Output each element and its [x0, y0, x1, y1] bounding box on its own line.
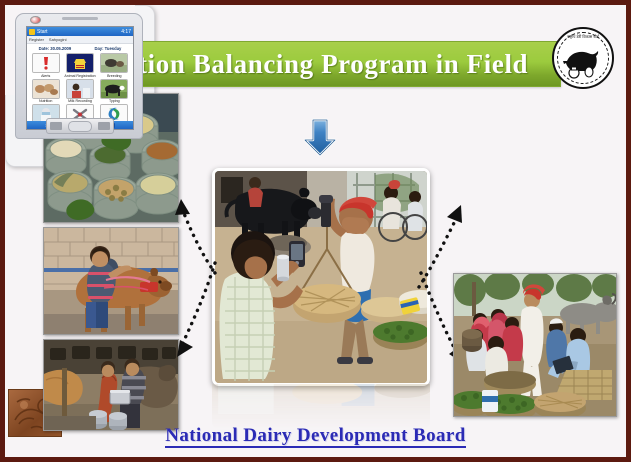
village-meeting-scene: [454, 274, 616, 416]
pda-screen[interactable]: Start 4:17 Register Sahyogini Date: 30.0…: [26, 26, 134, 130]
pda-menu-register[interactable]: Register: [29, 37, 44, 42]
pda-day-label: Day: Tuesday: [94, 46, 121, 51]
breeding-icon: [100, 53, 128, 73]
center-photo-reflection: [212, 384, 430, 430]
animal-registration-icon: [66, 53, 94, 73]
pda-app-alerts[interactable]: Alerts: [29, 53, 62, 78]
pda-menubar[interactable]: Register Sahyogini: [27, 36, 133, 44]
pda-date-label: Date: 30.05.2009: [39, 46, 72, 51]
pda-app-label: Alerts: [41, 74, 50, 78]
pda-hardware-buttons[interactable]: [46, 118, 114, 134]
footer-text: National Dairy Development Board: [165, 425, 465, 448]
pda-app-animal-registration[interactable]: Animal Registration: [63, 53, 96, 78]
pda-datebar: Date: 30.05.2009 Day: Tuesday: [27, 44, 133, 52]
pda-clock: 4:17: [121, 29, 131, 35]
milk-collection-scene: [44, 340, 178, 430]
page-title: Ration Balancing Program in Field: [104, 49, 528, 80]
pda-right-button[interactable]: [98, 122, 110, 130]
pda-titlebar: Start 4:17: [27, 27, 133, 36]
pda-app-label: Milk Recording: [68, 99, 92, 103]
pda-app-label: Typing: [109, 99, 120, 103]
pda-start-label: Start: [37, 29, 48, 35]
pda-app-label: Nutrition: [39, 99, 52, 103]
pda-dpad[interactable]: [68, 121, 92, 132]
nutrition-icon: [32, 79, 60, 99]
photo-village-farmer-meeting[interactable]: [453, 273, 617, 417]
pda-menu-sahyogini[interactable]: Sahyogini: [49, 37, 67, 42]
pda-speaker-grill: [62, 17, 98, 20]
pda-app-nutrition[interactable]: Nutrition: [29, 79, 62, 104]
photo-milk-collection[interactable]: [43, 339, 179, 431]
logo-hindi-text: राष्ट्रीय डेरी विकास बोर्ड: [554, 34, 612, 40]
pda-start-button[interactable]: Start: [29, 29, 48, 35]
pda-app-label: Breeding: [107, 74, 121, 78]
nddb-logo: राष्ट्रीय डेरी विकास बोर्ड: [552, 27, 614, 89]
pda-app-typing[interactable]: Typing: [98, 79, 131, 104]
pda-app-breeding[interactable]: Breeding: [98, 53, 131, 78]
typing-icon: [100, 79, 128, 99]
reflection-scene: [212, 384, 430, 430]
field-weighing-scene: [215, 171, 427, 383]
slide-root: Ration Balancing Program in Field राष्ट्…: [0, 0, 631, 462]
arrow-down-icon: [300, 117, 340, 159]
pda-status-led: [30, 16, 41, 24]
photo-measuring-cow[interactable]: [43, 227, 179, 335]
footer: National Dairy Development Board: [5, 425, 626, 447]
measuring-cow-scene: [44, 228, 178, 334]
slide-title-banner: Ration Balancing Program in Field: [71, 41, 561, 87]
logo-cow-icon: [561, 43, 607, 79]
windows-flag-icon: [29, 29, 35, 35]
pda-body: Start 4:17 Register Sahyogini Date: 30.0…: [15, 13, 143, 139]
pda-app-milk-recording[interactable]: Milk Recording: [63, 79, 96, 104]
pda-app-label: Animal Registration: [64, 74, 95, 78]
milk-recording-icon: [66, 79, 94, 99]
photo-field-weighing-fodder[interactable]: [212, 168, 430, 386]
alert-icon: [32, 53, 60, 73]
pda-left-button[interactable]: [50, 122, 62, 130]
blue-down-arrow: [300, 117, 340, 159]
